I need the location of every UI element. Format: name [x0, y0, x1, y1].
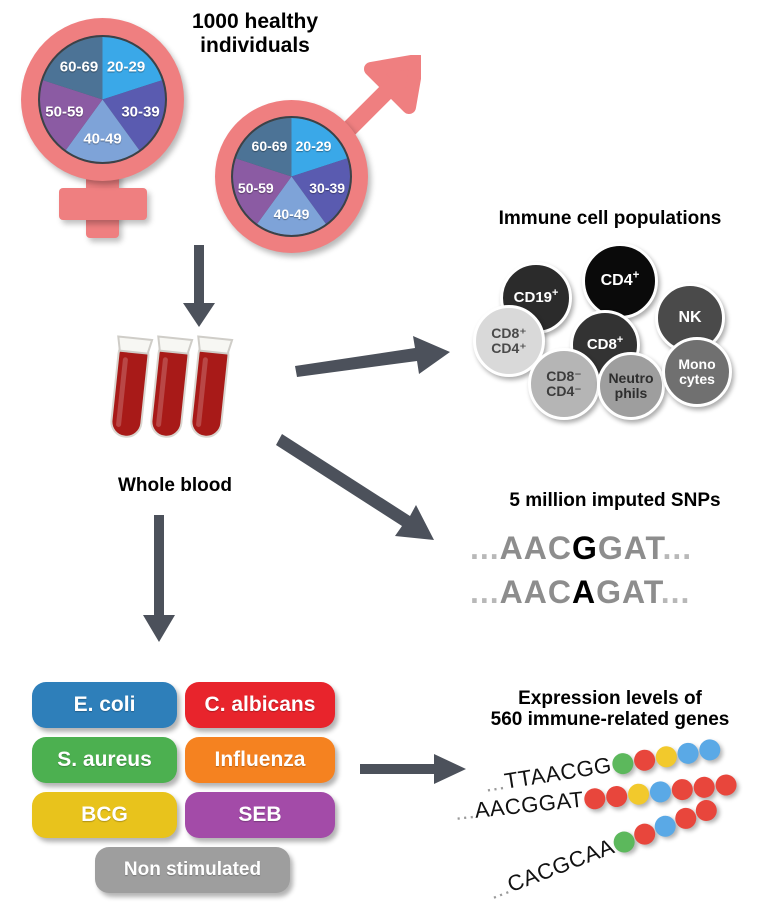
snp-sequence-row: ...AACGGAT... — [470, 530, 692, 567]
expression-bead — [672, 804, 699, 831]
arrow-to-snps — [282, 430, 457, 545]
immune-cell-label: CD8⁺CD4⁺ — [491, 326, 526, 355]
immune-cell-populations-title: Immune cell populations — [455, 208, 765, 229]
snp-suffix: ... — [663, 530, 693, 566]
stimulation-pill-influenza[interactable]: Influenza — [185, 737, 335, 783]
immune-cell-label: CD8+ — [587, 337, 623, 353]
snp-left-bases: AAC — [500, 530, 572, 566]
strand-ellipsis: ... — [454, 798, 476, 825]
stimulation-pill-label: SEB — [238, 803, 281, 827]
immune-cell-cd8: CD8+ — [570, 310, 640, 380]
female-symbol-horizontal-bar — [59, 188, 147, 220]
expression-strand-sequence: ...CACGCAA — [485, 834, 618, 906]
snp-variant-base: G — [572, 530, 598, 566]
expression-bead — [693, 775, 716, 798]
immune-cell-label: NK — [678, 310, 701, 327]
immune-cell-label: Monocytes — [678, 357, 715, 386]
expression-bead — [698, 737, 722, 761]
snp-suffix: ... — [661, 574, 691, 610]
expression-strand: ...AACGGAT — [454, 770, 738, 825]
expression-strand-sequence: ...TTAACGG — [483, 752, 614, 798]
expression-strand: ...TTAACGG — [483, 735, 722, 798]
expression-bead — [649, 780, 672, 803]
stimulation-pill-s-aureus[interactable]: S. aureus — [32, 737, 177, 783]
expression-bead — [583, 787, 606, 810]
snps-title: 5 million imputed SNPs — [460, 490, 770, 511]
immune-cell-label: CD8⁻CD4⁻ — [546, 369, 581, 398]
pie-slice-label-20-29: 20-29 — [296, 138, 332, 154]
stimulation-pill-e-coli[interactable]: E. coli — [32, 682, 177, 728]
pie-slice-label-20-29: 20-29 — [107, 59, 145, 76]
snp-right-bases: GAT — [598, 530, 663, 566]
expression-bead — [654, 744, 678, 768]
immune-cell-label: CD4+ — [601, 273, 640, 290]
expression-title: Expression levels of 560 immune-related … — [455, 688, 765, 731]
male-pie-labels: 20-2930-3940-4950-5960-69 — [231, 116, 352, 237]
snp-left-bases: AAC — [500, 574, 572, 610]
expression-bead — [652, 812, 679, 839]
stimulation-pill-seb[interactable]: SEB — [185, 792, 335, 838]
expression-bead — [631, 820, 658, 847]
stimulation-pill-label: S. aureus — [57, 748, 152, 772]
immune-cell-cd4: CD4+ — [582, 243, 658, 319]
whole-blood-label: Whole blood — [75, 475, 275, 496]
stimulation-pill-label: BCG — [81, 803, 128, 827]
pie-slice-label-40-49: 40-49 — [274, 206, 310, 222]
pie-slice-label-60-69: 60-69 — [252, 138, 288, 154]
snp-variant-base: A — [572, 574, 596, 610]
arrow-to-immune-cells — [295, 330, 460, 380]
strand-ellipsis: ... — [483, 769, 507, 797]
arrow-to-expression — [360, 752, 470, 788]
expression-title-line1: Expression levels of — [455, 688, 765, 709]
immune-cell-mono-cytes: Monocytes — [662, 337, 732, 407]
stimulation-pill-bcg[interactable]: BCG — [32, 792, 177, 838]
pie-slice-label-40-49: 40-49 — [83, 131, 121, 148]
immune-cell-nk: NK — [655, 283, 725, 353]
immune-cell-neutro-phils: Neutrophils — [597, 352, 665, 420]
blood-tubes-group — [105, 330, 245, 450]
immune-cell-cd8-cd4-: CD8⁻CD4⁻ — [528, 348, 600, 420]
snp-prefix: ... — [470, 530, 500, 566]
stimulation-pill-label: Non stimulated — [124, 859, 261, 881]
female-gender-symbol: 20-2930-3940-4950-5960-69 — [10, 10, 195, 240]
snp-sequences: ...AACGGAT......AACAGAT... — [470, 530, 760, 620]
immune-cell-label: Neutrophils — [608, 371, 653, 400]
expression-strand: ...CACGCAA — [485, 794, 720, 905]
pie-slice-label-50-59: 50-59 — [238, 180, 274, 196]
stimulation-pill-c-albicans[interactable]: C. albicans — [185, 682, 335, 728]
expression-strand-sequence: ...AACGGAT — [454, 787, 585, 826]
stimulation-pill-label: C. albicans — [205, 693, 316, 717]
expression-bead — [611, 828, 638, 855]
expression-bead — [693, 796, 720, 823]
expression-bead — [671, 778, 694, 801]
expression-bead — [611, 751, 635, 775]
immune-cell-cd8-cd4-: CD8⁺CD4⁺ — [473, 305, 545, 377]
expression-bead — [676, 741, 700, 765]
immune-cell-label: CD19+ — [514, 290, 559, 306]
arrow-down-to-blood — [178, 245, 218, 330]
strand-ellipsis: ... — [485, 874, 512, 904]
pie-slice-label-50-59: 50-59 — [45, 103, 83, 120]
male-gender-symbol: 20-2930-3940-4950-5960-69 — [205, 55, 420, 255]
expression-bead — [633, 748, 657, 772]
snp-sequence-row: ...AACAGAT... — [470, 574, 690, 611]
arrow-down-to-stimulations — [140, 515, 180, 645]
pie-slice-label-60-69: 60-69 — [60, 59, 98, 76]
female-pie-labels: 20-2930-3940-4950-5960-69 — [38, 35, 167, 164]
snp-prefix: ... — [470, 574, 500, 610]
expression-bead — [605, 784, 628, 807]
immune-cell-cd19: CD19+ — [500, 262, 572, 334]
pie-slice-label-30-39: 30-39 — [121, 103, 159, 120]
stimulation-pill-non-stimulated[interactable]: Non stimulated — [95, 847, 290, 893]
stimulation-pill-label: Influenza — [214, 748, 305, 772]
expression-bead — [627, 782, 650, 805]
snp-right-bases: GAT — [596, 574, 661, 610]
stimulation-pill-label: E. coli — [74, 693, 136, 717]
expression-title-line2: 560 immune-related genes — [455, 709, 765, 730]
expression-bead — [715, 773, 738, 796]
pie-slice-label-30-39: 30-39 — [309, 180, 345, 196]
